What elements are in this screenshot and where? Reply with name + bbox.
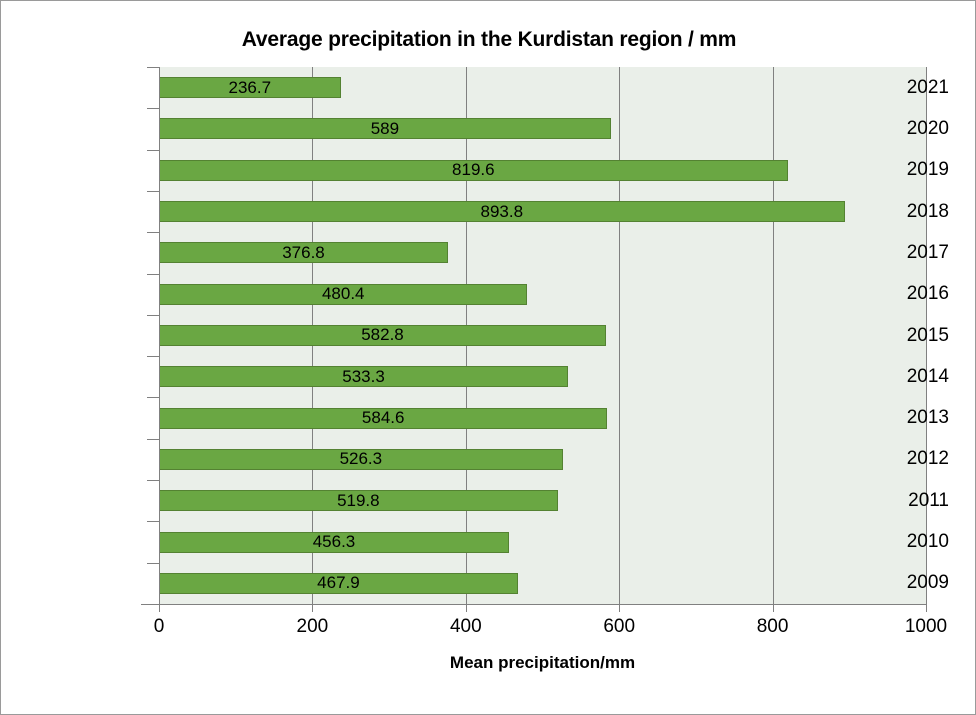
y-axis-tick-label: 2017 xyxy=(835,242,975,264)
y-axis-tick-mark xyxy=(147,108,159,109)
x-axis-line xyxy=(141,604,926,605)
x-axis-tick-label: 400 xyxy=(421,616,511,638)
x-axis-tick-mark xyxy=(773,604,774,612)
bar-value-label: 519.8 xyxy=(160,491,557,511)
bar-slot: 893.8 xyxy=(159,191,926,232)
bar-series: 236.7589819.6893.8376.8480.4582.8533.358… xyxy=(159,67,926,604)
bar[interactable]: 584.6 xyxy=(159,408,607,429)
bar-value-label: 893.8 xyxy=(160,202,844,222)
bar-slot: 456.3 xyxy=(159,521,926,562)
bar-slot: 819.6 xyxy=(159,150,926,191)
y-axis-tick-mark xyxy=(147,480,159,481)
x-axis-tick-mark xyxy=(926,604,927,612)
y-axis-tick-mark xyxy=(147,604,159,605)
bar-value-label: 584.6 xyxy=(160,408,606,428)
x-axis-tick-label: 600 xyxy=(574,616,664,638)
y-axis-tick-label: 2015 xyxy=(835,325,975,347)
y-axis-tick-label: 2019 xyxy=(835,159,975,181)
y-axis-tick-label: 2014 xyxy=(835,366,975,388)
bar-value-label: 456.3 xyxy=(160,532,508,552)
x-axis-tick-mark xyxy=(466,604,467,612)
y-axis-tick-label: 2021 xyxy=(835,77,975,99)
bar[interactable]: 819.6 xyxy=(159,160,788,181)
bar-value-label: 582.8 xyxy=(160,325,605,345)
x-axis-tick-mark xyxy=(619,604,620,612)
bar-value-label: 526.3 xyxy=(160,449,562,469)
bar-slot: 376.8 xyxy=(159,232,926,273)
y-axis-tick-mark xyxy=(147,232,159,233)
bar[interactable]: 236.7 xyxy=(159,77,341,98)
x-axis-tick-label: 0 xyxy=(114,616,204,638)
bar-value-label: 236.7 xyxy=(160,78,340,98)
bar[interactable]: 456.3 xyxy=(159,532,509,553)
bar[interactable]: 533.3 xyxy=(159,366,568,387)
bar-slot: 526.3 xyxy=(159,439,926,480)
bar-slot: 519.8 xyxy=(159,480,926,521)
y-axis-tick-label: 2020 xyxy=(835,118,975,140)
bar-slot: 584.6 xyxy=(159,397,926,438)
bar-slot: 533.3 xyxy=(159,356,926,397)
y-axis-tick-label: 2013 xyxy=(835,407,975,429)
x-axis-title: Mean precipitation/mm xyxy=(159,653,926,673)
y-axis-tick-mark xyxy=(147,439,159,440)
y-axis-tick-label: 2010 xyxy=(835,531,975,553)
bar-slot: 589 xyxy=(159,108,926,149)
x-axis-tick-label: 800 xyxy=(728,616,818,638)
y-axis-tick-mark xyxy=(147,150,159,151)
y-axis-tick-mark xyxy=(147,315,159,316)
y-axis-tick-mark xyxy=(147,521,159,522)
y-axis-tick-label: 2016 xyxy=(835,283,975,305)
bar[interactable]: 467.9 xyxy=(159,573,518,594)
bar-value-label: 480.4 xyxy=(160,284,526,304)
chart-page: Average precipitation in the Kurdistan r… xyxy=(0,0,976,715)
bar-slot: 467.9 xyxy=(159,563,926,604)
y-axis-tick-mark xyxy=(147,191,159,192)
bar-value-label: 589 xyxy=(160,119,610,139)
chart-title: Average precipitation in the Kurdistan r… xyxy=(1,28,976,52)
bar[interactable]: 582.8 xyxy=(159,325,606,346)
x-axis-tick-label: 1000 xyxy=(881,616,971,638)
y-axis-tick-mark xyxy=(147,67,159,68)
bar[interactable]: 519.8 xyxy=(159,490,558,511)
y-axis-tick-label: 2018 xyxy=(835,201,975,223)
y-axis-tick-mark xyxy=(147,563,159,564)
x-axis-tick-mark xyxy=(159,604,160,612)
bar-value-label: 533.3 xyxy=(160,367,567,387)
bar[interactable]: 480.4 xyxy=(159,284,527,305)
bar-value-label: 376.8 xyxy=(160,243,447,263)
y-axis-tick-mark xyxy=(147,397,159,398)
y-axis-line xyxy=(159,67,160,605)
y-axis-tick-label: 2011 xyxy=(835,490,975,512)
bar[interactable]: 893.8 xyxy=(159,201,845,222)
bar-slot: 582.8 xyxy=(159,315,926,356)
bar-slot: 480.4 xyxy=(159,274,926,315)
y-axis-tick-mark xyxy=(147,274,159,275)
plot-area: 236.7589819.6893.8376.8480.4582.8533.358… xyxy=(159,67,926,604)
y-axis-tick-mark xyxy=(147,356,159,357)
bar-value-label: 467.9 xyxy=(160,573,517,593)
bar-slot: 236.7 xyxy=(159,67,926,108)
bar-value-label: 819.6 xyxy=(160,160,787,180)
x-axis-tick-mark xyxy=(312,604,313,612)
bar[interactable]: 589 xyxy=(159,118,611,139)
x-axis-tick-label: 200 xyxy=(267,616,357,638)
bar[interactable]: 526.3 xyxy=(159,449,563,470)
y-axis-tick-label: 2009 xyxy=(835,572,975,594)
bar[interactable]: 376.8 xyxy=(159,242,448,263)
y-axis-tick-label: 2012 xyxy=(835,448,975,470)
